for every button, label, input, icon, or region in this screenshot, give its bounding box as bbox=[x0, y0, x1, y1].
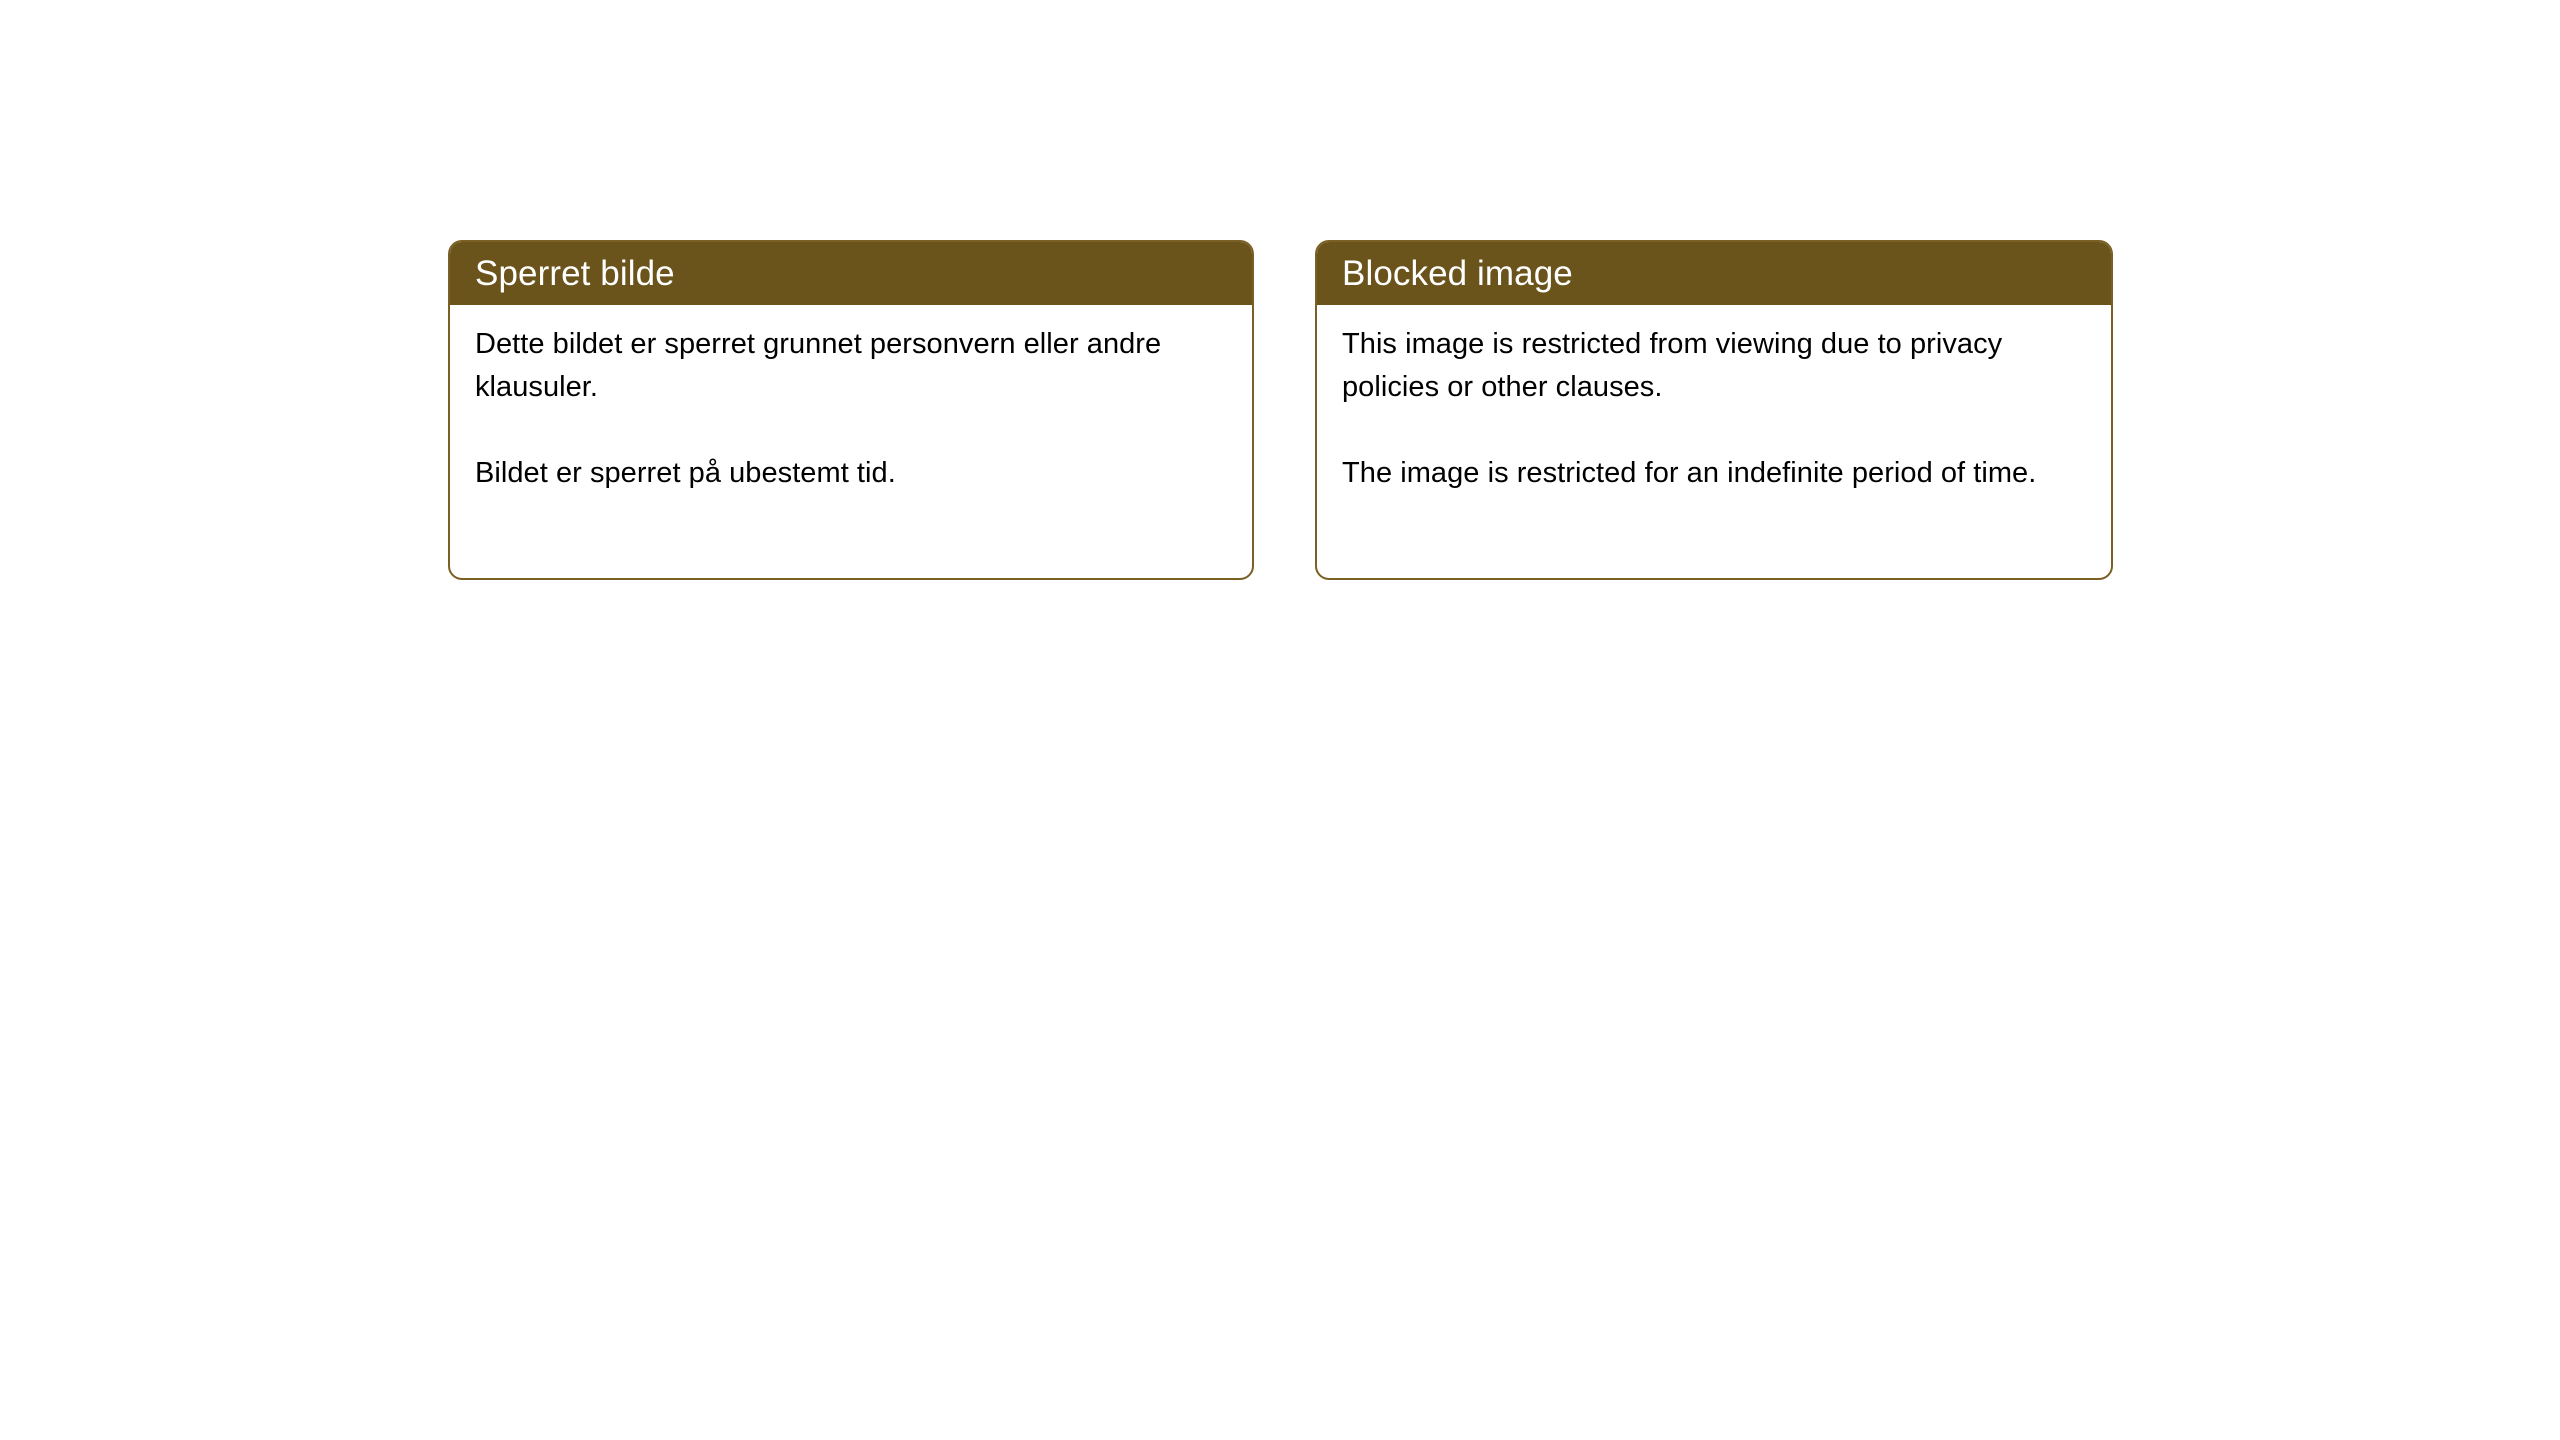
card-header-norwegian: Sperret bilde bbox=[450, 242, 1252, 305]
card-title-english: Blocked image bbox=[1342, 254, 1573, 294]
page-canvas: Sperret bilde Dette bildet er sperret gr… bbox=[0, 0, 2560, 1440]
card-paragraph-primary-norwegian: Dette bildet er sperret grunnet personve… bbox=[475, 323, 1228, 409]
card-body-english: This image is restricted from viewing du… bbox=[1317, 305, 2111, 495]
blocked-image-card-english: Blocked image This image is restricted f… bbox=[1315, 240, 2113, 580]
card-paragraph-secondary-norwegian: Bildet er sperret på ubestemt tid. bbox=[475, 452, 1228, 495]
card-paragraph-primary-english: This image is restricted from viewing du… bbox=[1342, 323, 2087, 409]
blocked-image-card-norwegian: Sperret bilde Dette bildet er sperret gr… bbox=[448, 240, 1254, 580]
card-header-english: Blocked image bbox=[1317, 242, 2111, 305]
card-paragraph-secondary-english: The image is restricted for an indefinit… bbox=[1342, 452, 2087, 495]
card-title-norwegian: Sperret bilde bbox=[475, 254, 675, 294]
card-body-norwegian: Dette bildet er sperret grunnet personve… bbox=[450, 305, 1252, 495]
